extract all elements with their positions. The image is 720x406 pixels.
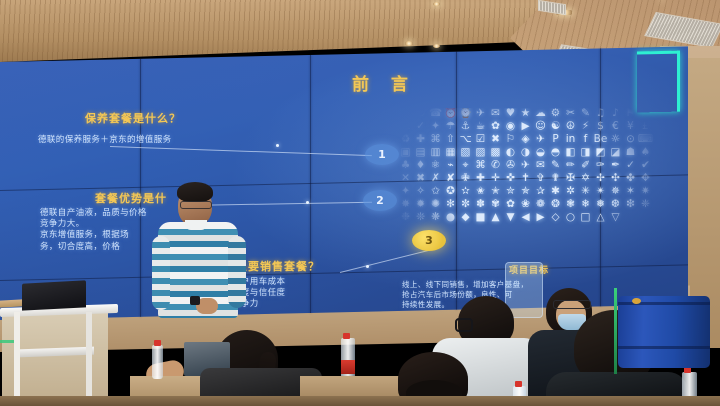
cloud-glyph-icon: ◆ (458, 212, 473, 225)
presenter-arm-right (228, 236, 246, 308)
drum-cap (632, 298, 641, 304)
cloud-glyph-icon: □ (578, 212, 593, 225)
slide-block-3: 么要销售套餐？ (236, 258, 320, 274)
slide-block-1-body: 德联的保养服务＋京东的增值服务 (38, 132, 172, 146)
podium-wood-trim (0, 299, 22, 307)
floor (0, 396, 720, 406)
cloud-glyph-icon: ◀ (518, 212, 533, 225)
cloud-glyph-icon: ❇ (623, 199, 638, 212)
leader-node-1 (276, 144, 279, 147)
presenter-hair (177, 182, 213, 202)
leader-node-3 (366, 265, 369, 268)
cloud-glyph-icon: △ (593, 212, 608, 225)
cloud-glyph-icon: ▶ (533, 212, 548, 225)
cloud-glyph-icon: ▽ (608, 212, 623, 225)
presentation-room-photo: 前 言 保养套餐是什么？ 德联的保养服务＋京东的增值服务 1 套餐优势是什 德联… (0, 0, 720, 406)
lectern-leg (86, 312, 92, 406)
presenter-remote[interactable] (190, 296, 200, 305)
cloud-glyph-icon: ❋ (428, 212, 443, 225)
icon-cloud-graphic: ☀✆☎⏰⌚✈✉♥★☁⚙✂✎♫♪⚑⌂⚠✓✦☂⚓☕✿◉▶☺☯☮⚡$€¥£♻✚⌘⇧⌥☑… (398, 108, 660, 280)
cloud-glyph-icon: ▲ (488, 212, 503, 225)
podium-laptop[interactable] (22, 280, 86, 310)
audience-man-white-glasses (455, 318, 473, 332)
slide-block-3-body: 客户用车成本 粘度与信任度 竞争力 (232, 274, 352, 311)
cloud-glyph-icon: ❉ (398, 212, 413, 225)
downlight (433, 2, 440, 6)
cloud-glyph-icon: ▼ (503, 212, 518, 225)
drum-rib (618, 346, 710, 349)
presenter-collar (185, 220, 207, 230)
slide-title: 前 言 (352, 70, 416, 95)
downlight (405, 41, 413, 46)
led-strip (0, 340, 14, 343)
lectern-leg (14, 312, 20, 406)
block-2-heading: 套餐优势是什 (95, 190, 167, 206)
water-bottle (152, 345, 163, 379)
cloud-glyph-icon: ◇ (548, 212, 563, 225)
cloud-glyph-icon: ❊ (413, 212, 428, 225)
block-1-heading: 保养套餐是什么？ (85, 110, 181, 126)
downlight (433, 44, 440, 48)
leader-node-2 (306, 201, 309, 204)
green-pole (614, 288, 617, 374)
presenter-glasses (180, 201, 212, 209)
block-1-text: 德联的保养服务＋京东的增值服务 (38, 135, 172, 146)
accent-corner-line (637, 51, 680, 113)
audience-masked-woman-glasses (553, 300, 591, 309)
cloud-glyph-icon: ○ (563, 212, 578, 225)
block-3-text: 客户用车成本 粘度与信任度 竞争力 (232, 277, 352, 311)
step-number-1: 1 (365, 144, 399, 165)
cloud-glyph-icon: ● (443, 212, 458, 225)
presenter-arm-left (152, 236, 170, 310)
cloud-glyph-icon: ❈ (638, 199, 653, 212)
block-3-heading: 么要销售套餐？ (236, 258, 320, 274)
bottle-label (341, 360, 355, 374)
step-number-2: 2 (363, 190, 397, 211)
cloud-glyph-icon: ■ (473, 212, 488, 225)
slide-block-2: 套餐优势是什 (95, 190, 167, 206)
slide-block-1: 保养套餐是什么？ (85, 110, 181, 126)
oil-drum (618, 296, 710, 368)
